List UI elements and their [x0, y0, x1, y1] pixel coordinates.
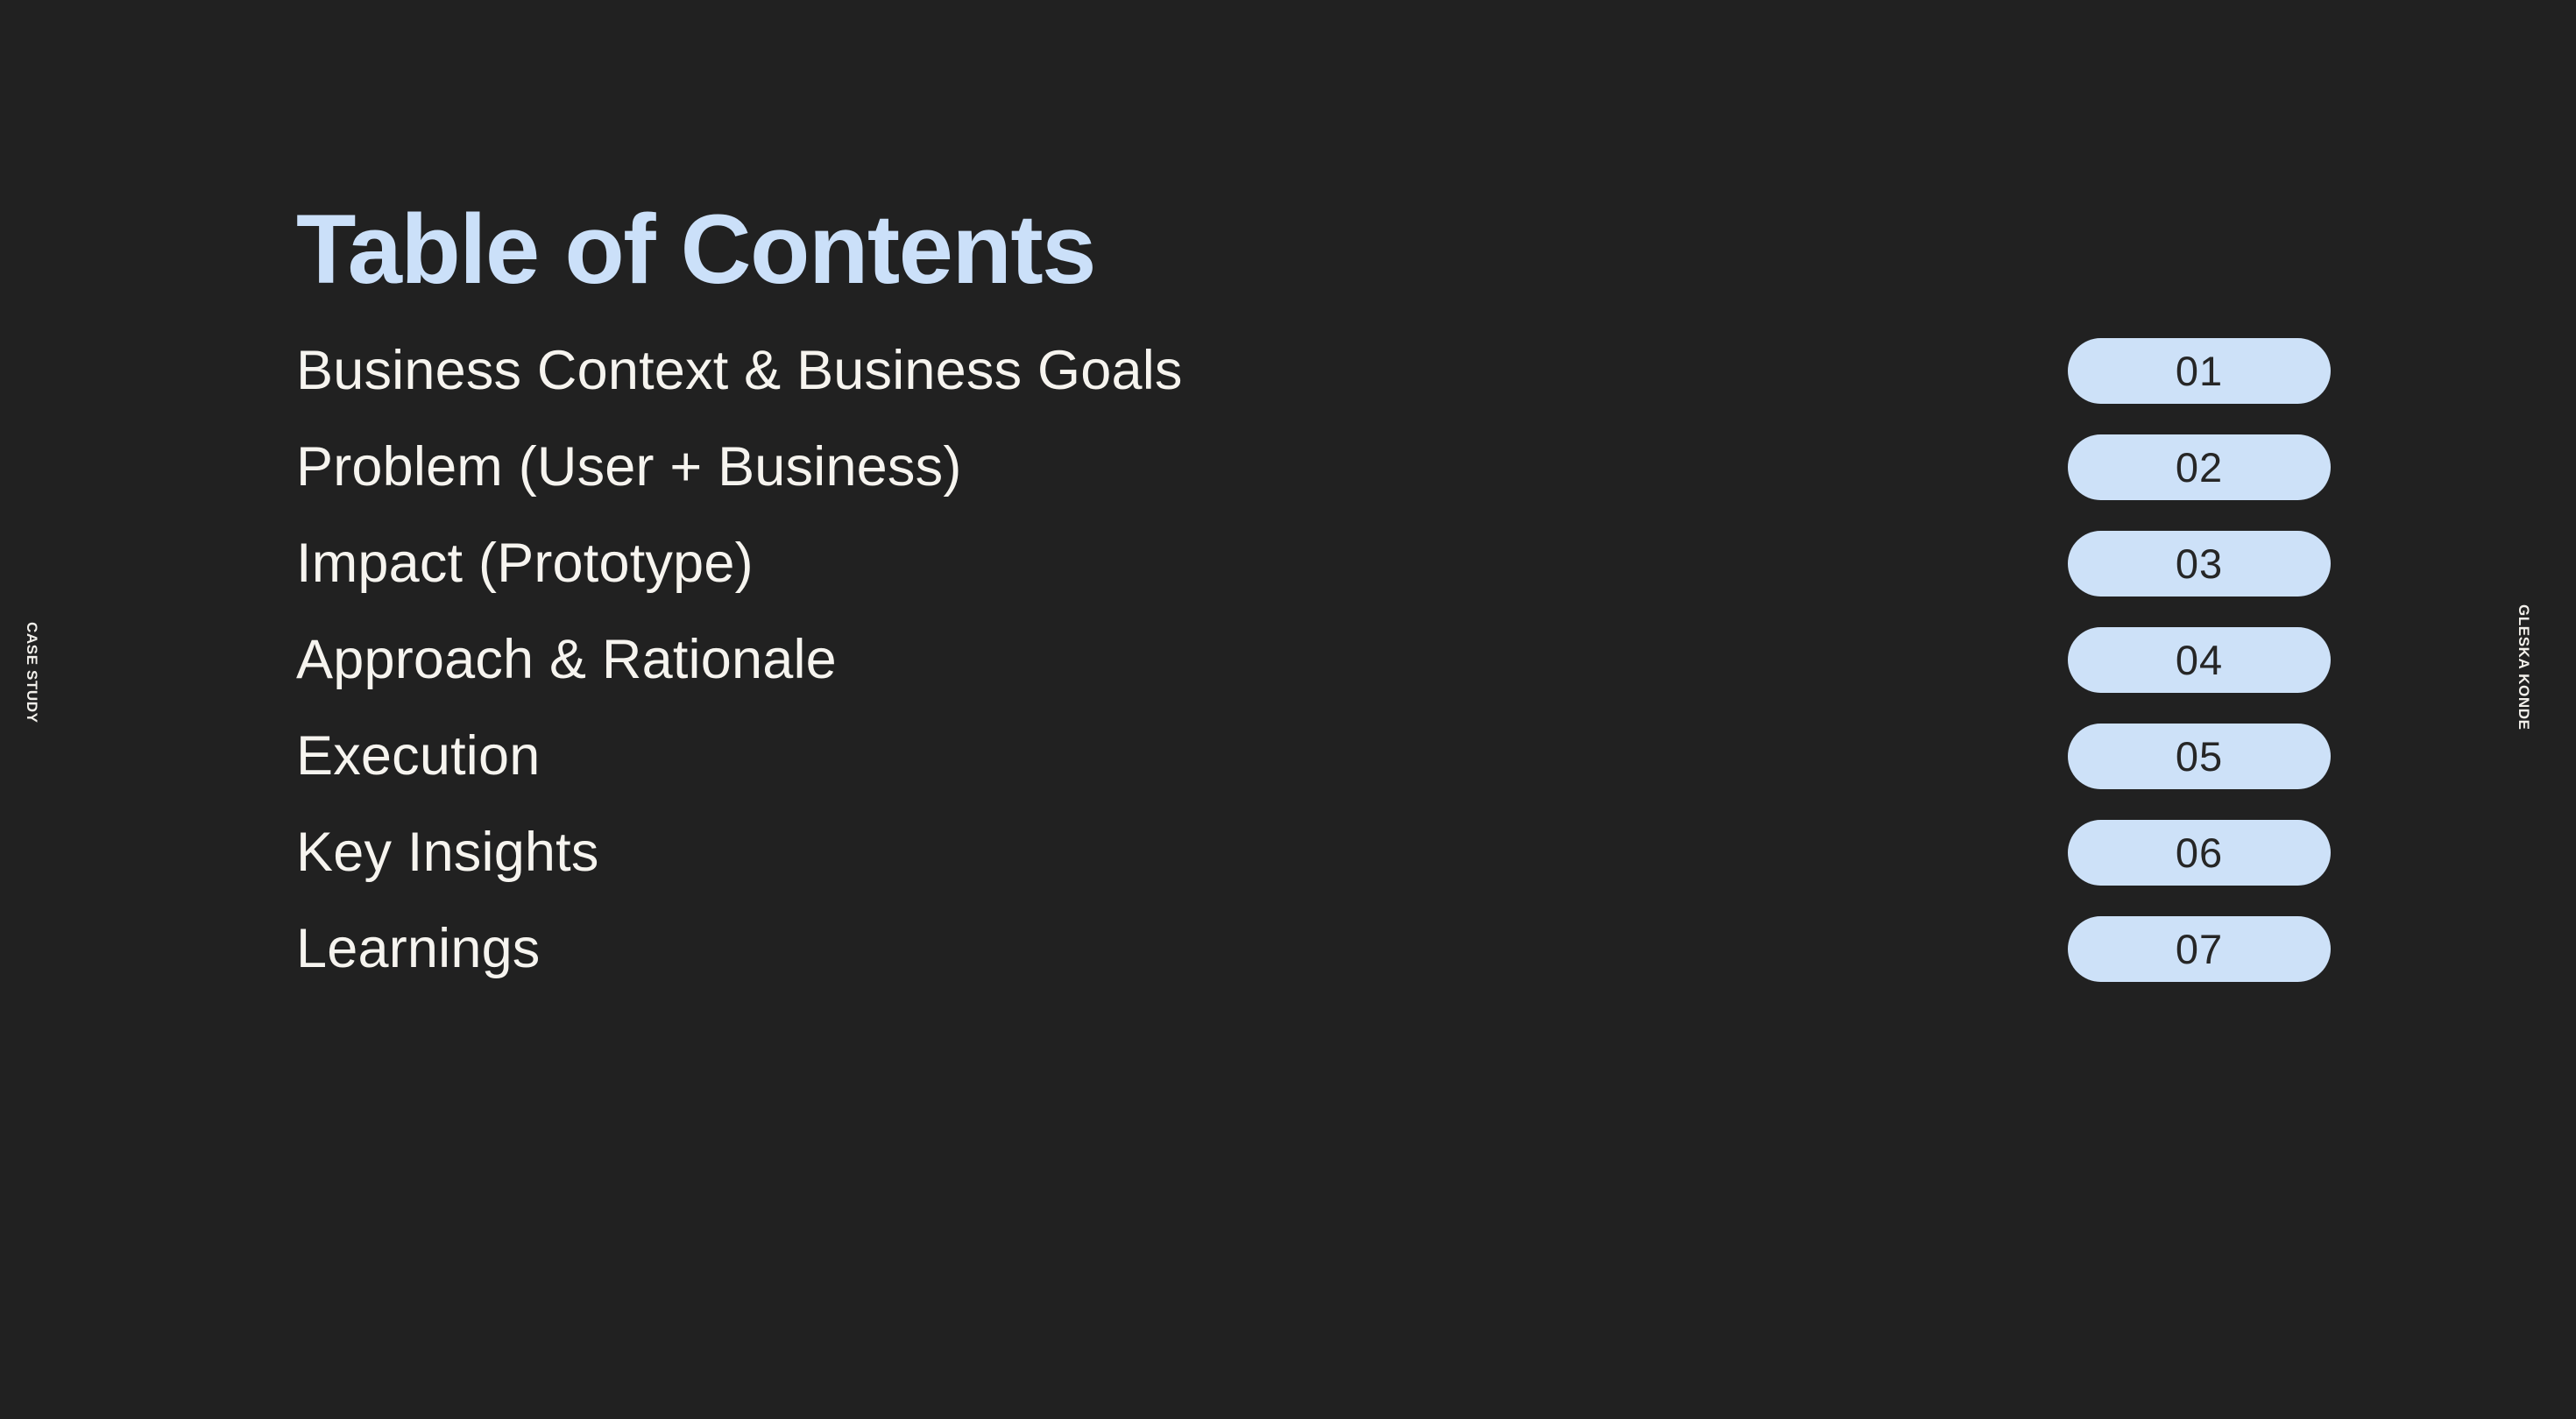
toc-entry-label: Approach & Rationale [296, 632, 837, 688]
toc-entry[interactable]: Impact (Prototype) [296, 515, 1786, 611]
toc-number-slot: 01 [2068, 322, 2331, 419]
toc-number-slot: 07 [2068, 900, 2331, 997]
side-label-case-study: CASE STUDY [23, 622, 40, 724]
toc-entry-label: Learnings [296, 921, 541, 977]
toc-number-slot: 06 [2068, 804, 2331, 900]
toc-number-pill[interactable]: 01 [2068, 338, 2331, 404]
toc-number-slot: 04 [2068, 611, 2331, 708]
toc-entry-label: Impact (Prototype) [296, 536, 754, 591]
toc-entry[interactable]: Problem (User + Business) [296, 419, 1786, 515]
toc-number-pill[interactable]: 02 [2068, 434, 2331, 500]
toc-number-label: 05 [2176, 736, 2223, 777]
toc-number-label: 01 [2176, 350, 2223, 392]
slide-canvas: Table of Contents Business Context & Bus… [0, 0, 2576, 1419]
side-label-author: GLESKA KONDE [2515, 604, 2532, 731]
toc-number-label: 04 [2176, 639, 2223, 681]
page-title: Table of Contents [296, 195, 1095, 303]
toc-number-pill[interactable]: 05 [2068, 724, 2331, 789]
table-of-contents-number-list: 01020304050607 [2068, 322, 2331, 997]
toc-number-label: 06 [2176, 832, 2223, 873]
toc-entry-label: Problem (User + Business) [296, 440, 962, 495]
toc-entry-label: Key Insights [296, 825, 599, 880]
toc-entry[interactable]: Learnings [296, 900, 1786, 997]
toc-number-label: 02 [2176, 447, 2223, 488]
toc-number-slot: 02 [2068, 419, 2331, 515]
toc-number-slot: 05 [2068, 708, 2331, 804]
toc-number-slot: 03 [2068, 515, 2331, 611]
toc-entry[interactable]: Business Context & Business Goals [296, 322, 1786, 419]
table-of-contents-list: Business Context & Business GoalsProblem… [296, 322, 1786, 997]
toc-number-pill[interactable]: 03 [2068, 531, 2331, 597]
toc-number-label: 07 [2176, 928, 2223, 970]
toc-number-label: 03 [2176, 543, 2223, 584]
toc-entry[interactable]: Key Insights [296, 804, 1786, 900]
toc-entry-label: Business Context & Business Goals [296, 343, 1183, 399]
toc-entry[interactable]: Approach & Rationale [296, 611, 1786, 708]
toc-number-pill[interactable]: 06 [2068, 820, 2331, 886]
toc-number-pill[interactable]: 07 [2068, 916, 2331, 982]
toc-number-pill[interactable]: 04 [2068, 627, 2331, 693]
toc-entry[interactable]: Execution [296, 708, 1786, 804]
toc-entry-label: Execution [296, 729, 540, 784]
